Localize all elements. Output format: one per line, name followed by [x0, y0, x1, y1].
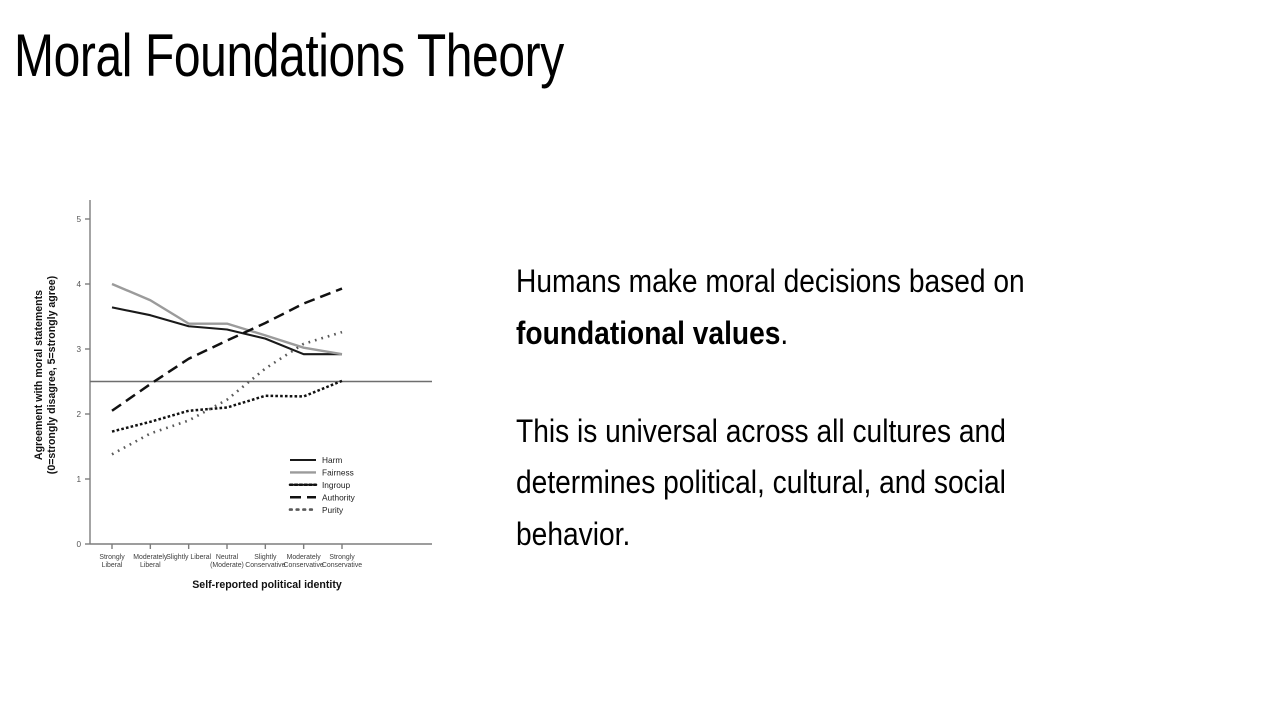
- x-axis-category-label: Conservative: [322, 562, 362, 569]
- chart-series-group: [112, 284, 342, 454]
- legend-label-harm: Harm: [322, 455, 342, 465]
- x-axis-category-label: Liberal: [102, 562, 123, 569]
- y-axis-tick-label: 1: [76, 475, 81, 484]
- legend-label-fairness: Fairness: [322, 468, 354, 478]
- x-axis-category-label: Conservative: [284, 562, 324, 569]
- series-line-fairness: [112, 284, 342, 354]
- y-axis-tick-label: 3: [76, 345, 81, 354]
- body-text-emphasis: foundational values: [516, 315, 780, 351]
- x-axis-category-label: Moderately: [133, 554, 168, 561]
- x-axis-category-label: Strongly: [329, 554, 355, 561]
- y-axis-tick-label: 0: [76, 540, 81, 549]
- y-axis-title-line-1: Agreement with moral statements: [33, 290, 45, 460]
- x-axis-category-label: Liberal: [140, 562, 161, 569]
- body-text-segment: This is universal across all cultures an…: [516, 413, 1006, 553]
- x-axis-category-label: Slightly Liberal: [166, 554, 211, 561]
- legend-label-ingroup: Ingroup: [322, 480, 351, 490]
- body-text-block: Humans make moral decisions based on fou…: [516, 256, 1206, 561]
- x-axis-category-labels: StronglyLiberalModeratelyLiberalSlightly…: [99, 554, 362, 569]
- body-paragraph-1: Humans make moral decisions based on fou…: [516, 256, 1123, 360]
- y-axis-title-line-2: (0=strongly disagree, 5=strongly agree): [46, 276, 58, 474]
- body-text-segment: Humans make moral decisions based on: [516, 263, 1025, 299]
- y-axis-tick-label: 4: [76, 280, 81, 289]
- x-axis-category-label: Moderately: [287, 554, 322, 561]
- chart-canvas: 012345 StronglyLiberalModeratelyLiberalS…: [22, 182, 442, 612]
- x-axis-title: Self-reported political identity: [192, 579, 342, 591]
- body-paragraph-2: This is universal across all cultures an…: [516, 406, 1123, 561]
- x-axis-category-label: Conservative: [245, 562, 285, 569]
- body-text-segment: .: [780, 315, 788, 351]
- legend-label-authority: Authority: [322, 492, 356, 502]
- y-axis-tick-labels: 012345: [76, 215, 81, 549]
- x-axis-category-label: Slightly: [254, 554, 277, 561]
- y-axis-tick-label: 2: [76, 410, 81, 419]
- x-axis-ticks: [112, 544, 342, 549]
- y-axis-tick-label: 5: [76, 215, 81, 224]
- series-line-ingroup: [112, 381, 342, 432]
- page-title: Moral Foundations Theory: [14, 24, 564, 88]
- line-chart-figure: 012345 StronglyLiberalModeratelyLiberalS…: [22, 182, 442, 612]
- x-axis-category-label: Neutral: [216, 554, 239, 561]
- legend-label-purity: Purity: [322, 505, 344, 515]
- x-axis-category-label: (Moderate): [210, 562, 244, 569]
- x-axis-category-label: Strongly: [99, 554, 125, 561]
- series-line-purity: [112, 332, 342, 454]
- chart-legend: HarmFairnessIngroupAuthorityPurity: [290, 455, 356, 515]
- y-axis-ticks: [85, 219, 90, 544]
- series-line-authority: [112, 289, 342, 411]
